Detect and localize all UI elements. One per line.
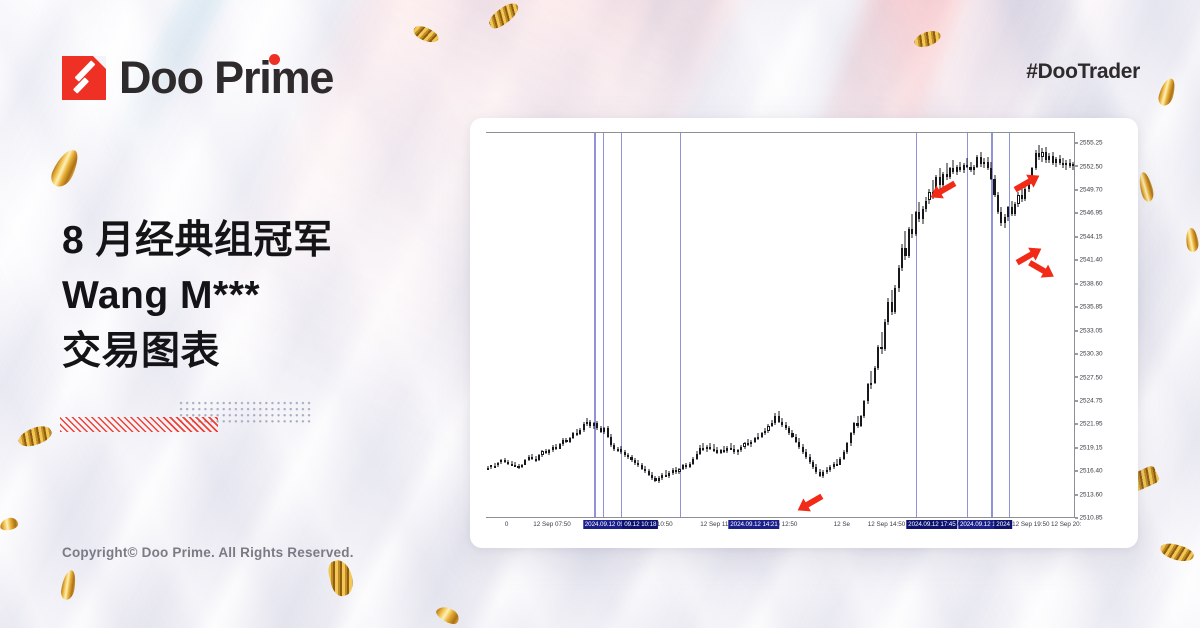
logo-corner-notch	[93, 56, 106, 69]
candle-body	[956, 167, 958, 172]
candle-body	[747, 443, 749, 445]
candlestick	[908, 133, 910, 518]
candle-body	[709, 447, 711, 449]
candlestick	[983, 133, 985, 518]
candlestick	[990, 133, 992, 518]
candlestick	[641, 133, 643, 518]
candle-body	[678, 469, 680, 472]
candle-body	[795, 437, 797, 442]
price-axis-tick: 2544.15	[1075, 234, 1103, 241]
price-axis-tick: 2549.70	[1075, 187, 1103, 194]
candle-body	[1062, 163, 1064, 165]
chart-card: 2555.252552.502549.702546.952544.152541.…	[470, 118, 1138, 548]
candle-body	[487, 468, 489, 470]
candle-body	[843, 452, 845, 459]
candle-body	[836, 464, 838, 466]
price-axis-tick: 2541.40	[1075, 257, 1103, 264]
candlestick	[809, 133, 811, 518]
candlestick	[904, 133, 906, 518]
candlestick	[833, 133, 835, 518]
candlestick	[692, 133, 694, 518]
time-axis-tick: 12 Sep 07:50	[533, 521, 570, 528]
candle-body	[969, 167, 971, 170]
candlestick	[795, 133, 797, 518]
logo-slash-lower	[73, 77, 89, 93]
candle-body	[607, 428, 609, 436]
candle-body	[788, 428, 790, 433]
candle-body	[826, 470, 828, 472]
candle-body	[497, 463, 499, 466]
candle-body	[593, 423, 595, 426]
candle-body	[815, 467, 817, 472]
candlestick	[600, 133, 602, 518]
candle-body	[1052, 156, 1054, 163]
candlestick	[918, 133, 920, 518]
candle-body	[689, 464, 691, 467]
candlestick	[634, 133, 636, 518]
candle-body	[545, 451, 547, 453]
candlestick	[583, 133, 585, 518]
candle-body	[853, 423, 855, 433]
candle-body	[915, 212, 917, 234]
candlestick	[997, 133, 999, 518]
candle-body	[877, 347, 879, 367]
candle-body	[535, 459, 537, 461]
candle-body	[548, 450, 550, 453]
candle-body	[661, 475, 663, 478]
candle-body	[627, 455, 629, 457]
candlestick	[791, 133, 793, 518]
candle-body	[637, 463, 639, 466]
time-axis-tick: 12 Sep 19:50	[1012, 521, 1049, 528]
candlestick	[969, 133, 971, 518]
price-axis-tick: 2535.85	[1075, 304, 1103, 311]
candlestick	[511, 133, 513, 518]
candlestick	[884, 133, 886, 518]
candlestick	[696, 133, 698, 518]
candle-body	[980, 157, 982, 165]
trade-time-badge: 2024.09.12 17:45	[906, 520, 957, 529]
candle-body	[555, 447, 557, 449]
candle-body	[552, 447, 554, 450]
candle-body	[494, 466, 496, 468]
candle-body	[997, 195, 999, 212]
brand-logo-label: Doo Prime	[119, 52, 333, 103]
candlestick	[822, 133, 824, 518]
candle-body	[538, 455, 540, 460]
candlestick	[610, 133, 612, 518]
decorative-pattern	[60, 400, 312, 434]
candle-body	[860, 416, 862, 425]
candlestick	[867, 133, 869, 518]
headline-line-2: Wang M***	[62, 268, 333, 323]
copyright-text: Copyright© Doo Prime. All Rights Reserve…	[62, 545, 354, 560]
candle-body	[822, 472, 824, 475]
price-axis-tick: 2513.60	[1075, 491, 1103, 498]
candlestick	[788, 133, 790, 518]
candlestick	[853, 133, 855, 518]
candle-body	[654, 478, 656, 481]
price-axis: 2555.252552.502549.702546.952544.152541.…	[1075, 132, 1122, 518]
candle-body	[648, 471, 650, 474]
brand-logo-text: Doo Prime	[119, 52, 333, 104]
candlestick-plot	[486, 132, 1075, 518]
candlestick	[607, 133, 609, 518]
candlestick	[624, 133, 626, 518]
candle-body	[966, 165, 968, 167]
candlestick	[737, 133, 739, 518]
time-axis-tick: 12 Sep 20:	[1051, 521, 1081, 528]
candle-body	[596, 423, 598, 428]
candlestick	[987, 133, 989, 518]
candlestick	[774, 133, 776, 518]
candle-body	[716, 450, 718, 453]
candle-body	[720, 450, 722, 453]
candle-body	[1007, 207, 1009, 217]
candlestick	[494, 133, 496, 518]
candlestick	[757, 133, 759, 518]
candlestick	[891, 133, 893, 518]
candle-body	[528, 457, 530, 460]
candle-body	[802, 447, 804, 452]
candlestick	[617, 133, 619, 518]
candlestick	[894, 133, 896, 518]
candlestick	[596, 133, 598, 518]
candlestick	[829, 133, 831, 518]
candlestick	[761, 133, 763, 518]
candle-body	[730, 448, 732, 450]
candlestick	[901, 133, 903, 518]
candlestick	[586, 133, 588, 518]
candle-body	[613, 445, 615, 449]
candle-body	[973, 167, 975, 170]
candlestick	[644, 133, 646, 518]
candlestick	[555, 133, 557, 518]
candle-body	[891, 302, 893, 312]
candlestick	[846, 133, 848, 518]
candlestick	[637, 133, 639, 518]
candle-body	[750, 442, 752, 445]
candlestick	[672, 133, 674, 518]
candle-body	[918, 212, 920, 219]
candlestick	[545, 133, 547, 518]
candle-body	[798, 442, 800, 447]
candlestick	[552, 133, 554, 518]
candlestick	[576, 133, 578, 518]
candle-body	[764, 431, 766, 434]
candlestick	[487, 133, 489, 518]
candlestick	[993, 133, 995, 518]
candlestick	[767, 133, 769, 518]
candlestick	[1011, 133, 1013, 518]
candle-body	[829, 467, 831, 470]
candle-body	[743, 443, 745, 446]
candle-body	[754, 438, 756, 441]
candle-body	[774, 416, 776, 424]
candle-body	[651, 475, 653, 478]
candle-body	[565, 440, 567, 442]
candle-body	[682, 465, 684, 468]
candlestick	[966, 133, 968, 518]
candle-body	[644, 469, 646, 472]
candle-body	[922, 209, 924, 219]
candle-body	[514, 465, 516, 467]
candlestick	[1055, 133, 1057, 518]
candlestick	[627, 133, 629, 518]
candlestick	[1004, 133, 1006, 518]
candle-body	[600, 428, 602, 431]
promo-banner: Doo Prime #DooTrader 8 月经典组冠军 Wang M*** …	[0, 0, 1200, 628]
plot-inner	[486, 133, 1074, 517]
headline-line-1: 8 月经典组冠军	[62, 213, 333, 268]
candle-body	[740, 447, 742, 450]
candle-body	[531, 457, 533, 459]
candle-body	[887, 302, 889, 322]
candlestick	[562, 133, 564, 518]
candlestick	[764, 133, 766, 518]
candlestick	[593, 133, 595, 518]
candlestick	[713, 133, 715, 518]
candle-body	[870, 383, 872, 385]
candlestick	[730, 133, 732, 518]
candlestick	[665, 133, 667, 518]
price-axis-tick: 2555.25	[1075, 140, 1103, 147]
candlestick	[497, 133, 499, 518]
candlestick	[1059, 133, 1061, 518]
candlestick	[589, 133, 591, 518]
candle-body	[805, 452, 807, 457]
candle-body	[791, 433, 793, 436]
candle-body	[850, 433, 852, 443]
candlestick	[613, 133, 615, 518]
candle-body	[726, 448, 728, 451]
candlestick	[541, 133, 543, 518]
candlestick	[771, 133, 773, 518]
candlestick	[856, 133, 858, 518]
trade-time-badge: 09.12 10:18	[622, 520, 658, 529]
candle-body	[576, 433, 578, 435]
candlestick	[1035, 133, 1037, 518]
price-axis-tick: 2538.60	[1075, 280, 1103, 287]
candle-body	[874, 368, 876, 383]
candle-body	[706, 447, 708, 450]
candle-body	[1045, 152, 1047, 160]
candle-body	[959, 167, 961, 170]
candlestick	[915, 133, 917, 518]
candlestick	[887, 133, 889, 518]
candlestick	[565, 133, 567, 518]
candlestick	[528, 133, 530, 518]
candle-body	[617, 449, 619, 451]
candlestick	[504, 133, 506, 518]
candle-body	[846, 443, 848, 451]
candle-body	[757, 437, 759, 439]
page-title: 8 月经典组冠军 Wang M*** 交易图表	[62, 213, 333, 379]
candlestick	[720, 133, 722, 518]
candlestick	[973, 133, 975, 518]
candle-body	[672, 470, 674, 473]
candlestick	[548, 133, 550, 518]
candle-body	[586, 422, 588, 424]
candle-body	[668, 473, 670, 476]
candlestick	[569, 133, 571, 518]
decorative-red-hatch	[60, 417, 218, 432]
candlestick	[702, 133, 704, 518]
price-axis-tick: 2521.95	[1075, 421, 1103, 428]
candle-body	[1048, 156, 1050, 160]
candle-body	[658, 478, 660, 481]
candlestick	[1007, 133, 1009, 518]
candlestick	[658, 133, 660, 518]
candlestick	[648, 133, 650, 518]
candle-body	[737, 450, 739, 452]
candlestick	[531, 133, 533, 518]
candle-body	[559, 444, 561, 448]
candlestick	[535, 133, 537, 518]
candle-body	[579, 430, 581, 434]
candle-body	[1011, 207, 1013, 214]
candle-body	[884, 322, 886, 349]
candlestick	[747, 133, 749, 518]
candle-body	[685, 465, 687, 467]
candlestick	[668, 133, 670, 518]
trade-time-badge: 2024	[994, 520, 1012, 529]
candle-body	[665, 475, 667, 477]
candle-body	[898, 268, 900, 288]
candle-body	[911, 229, 913, 234]
candle-body	[517, 466, 519, 468]
candle-body	[976, 157, 978, 167]
candlestick	[963, 133, 965, 518]
price-axis-tick: 2546.95	[1075, 210, 1103, 217]
candlestick	[898, 133, 900, 518]
chart-frame: 2555.252552.502549.702546.952544.152541.…	[486, 132, 1122, 534]
candle-body	[696, 454, 698, 459]
hashtag-label: #DooTrader	[1026, 60, 1140, 84]
candle-body	[641, 465, 643, 468]
candle-body	[511, 464, 513, 466]
candlestick	[579, 133, 581, 518]
candlestick	[836, 133, 838, 518]
candle-body	[1004, 217, 1006, 223]
candle-body	[692, 459, 694, 464]
time-axis-tick: 0	[505, 521, 509, 528]
candle-body	[1069, 163, 1071, 166]
candlestick	[521, 133, 523, 518]
candle-body	[699, 448, 701, 454]
candle-body	[1000, 212, 1002, 223]
candle-body	[761, 433, 763, 436]
candlestick	[1069, 133, 1071, 518]
candle-body	[767, 426, 769, 431]
time-axis-tick: 12 Se	[834, 521, 850, 528]
candlestick	[880, 133, 882, 518]
candlestick	[1065, 133, 1067, 518]
candle-body	[908, 229, 910, 256]
candle-body	[507, 462, 509, 464]
candle-body	[990, 168, 992, 179]
candlestick	[675, 133, 677, 518]
candlestick	[661, 133, 663, 518]
brand-logo[interactable]: Doo Prime	[62, 52, 333, 104]
candle-body	[1014, 204, 1016, 214]
candle-body	[993, 179, 995, 196]
candle-body	[1041, 152, 1043, 157]
candle-body	[880, 347, 882, 349]
candle-body	[562, 440, 564, 444]
candle-body	[569, 438, 571, 442]
candlestick	[1062, 133, 1064, 518]
candle-body	[781, 422, 783, 425]
candle-body	[1038, 153, 1040, 156]
candlestick	[860, 133, 862, 518]
candle-body	[952, 168, 954, 171]
candle-body	[723, 450, 725, 452]
candlestick	[490, 133, 492, 518]
candle-body	[925, 201, 927, 209]
candle-body	[572, 433, 574, 437]
candle-body	[630, 457, 632, 460]
candle-body	[1055, 159, 1057, 162]
candlestick	[1045, 133, 1047, 518]
candlestick	[805, 133, 807, 518]
candlestick	[706, 133, 708, 518]
candle-body	[863, 401, 865, 416]
candlestick	[1072, 133, 1074, 518]
candle-body	[867, 384, 869, 401]
candle-body	[1072, 164, 1074, 166]
candle-body	[733, 449, 735, 452]
candlestick	[1000, 133, 1002, 518]
candle-body	[1059, 159, 1061, 163]
candle-body	[778, 416, 780, 422]
trade-time-badge: 2024.09.12 14:21	[728, 520, 779, 529]
candle-body	[809, 457, 811, 462]
candlestick	[572, 133, 574, 518]
candlestick	[980, 133, 982, 518]
candlestick	[740, 133, 742, 518]
time-axis: 012 Sep 07:5012 Sep 10:5012 Sep 11:5012 …	[486, 520, 1075, 534]
candlestick	[685, 133, 687, 518]
candle-body	[500, 460, 502, 462]
candlestick	[815, 133, 817, 518]
candle-body	[624, 452, 626, 455]
candle-body	[490, 465, 492, 467]
candlestick	[839, 133, 841, 518]
candle-body	[521, 465, 523, 468]
candle-body	[634, 460, 636, 463]
candlestick	[1038, 133, 1040, 518]
candle-body	[524, 460, 526, 465]
candle-body	[894, 288, 896, 312]
candlestick	[699, 133, 701, 518]
candle-body	[901, 248, 903, 268]
candlestick	[877, 133, 879, 518]
price-axis-tick: 2527.50	[1075, 374, 1103, 381]
candle-body	[713, 449, 715, 451]
candlestick	[689, 133, 691, 518]
candlestick	[850, 133, 852, 518]
candlestick	[785, 133, 787, 518]
candle-body	[589, 422, 591, 425]
candle-body	[987, 162, 989, 168]
candlestick	[802, 133, 804, 518]
price-axis-tick: 2533.05	[1075, 327, 1103, 334]
candle-body	[819, 472, 821, 475]
candlestick	[500, 133, 502, 518]
logo-i-dot-accent	[269, 54, 280, 65]
candlestick	[922, 133, 924, 518]
